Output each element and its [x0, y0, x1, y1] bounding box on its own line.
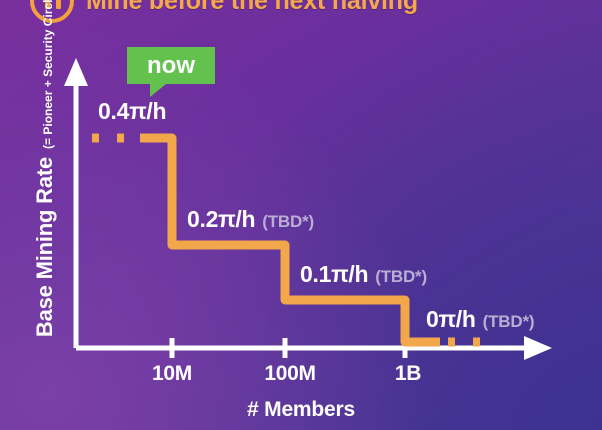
step-label-1: 0.2π/h(TBD*) — [187, 208, 314, 231]
step-tbd-2: (TBD*) — [375, 267, 427, 286]
y-axis-arrowhead — [64, 58, 88, 86]
now-callout-tail — [150, 84, 166, 97]
step-value-2: 0.1π/h — [300, 261, 368, 287]
y-axis-title: (= Pioneer + Security Circle) Base Minin… — [32, 33, 58, 293]
y-axis-subtitle: (= Pioneer + Security Circle) — [41, 0, 55, 149]
y-axis-main-label: Base Mining Rate — [32, 157, 58, 337]
step-label-2: 0.1π/h(TBD*) — [300, 263, 427, 286]
step-tbd-3: (TBD*) — [483, 312, 535, 331]
step-label-3: 0π/h(TBD*) — [426, 308, 534, 331]
now-callout-badge: now — [127, 47, 215, 84]
infographic-canvas: Mine before the next halving — [0, 0, 602, 430]
step-chart: now (= Pioneer + Security Circle) Base M… — [0, 0, 602, 430]
x-tick-label-1b: 1B — [395, 362, 421, 386]
step-value-0: 0.4π/h — [98, 98, 166, 124]
step-line — [140, 138, 440, 342]
step-value-1: 0.2π/h — [187, 206, 255, 232]
x-tick-label-100m: 100M — [264, 362, 315, 386]
x-tick-label-10m: 10M — [152, 362, 192, 386]
step-label-0: 0.4π/h — [98, 100, 173, 123]
step-value-3: 0π/h — [426, 306, 476, 332]
now-callout-label: now — [147, 54, 195, 78]
x-axis-arrowhead — [524, 336, 552, 360]
step-tbd-1: (TBD*) — [262, 212, 314, 231]
x-axis-title: # Members — [0, 398, 602, 422]
